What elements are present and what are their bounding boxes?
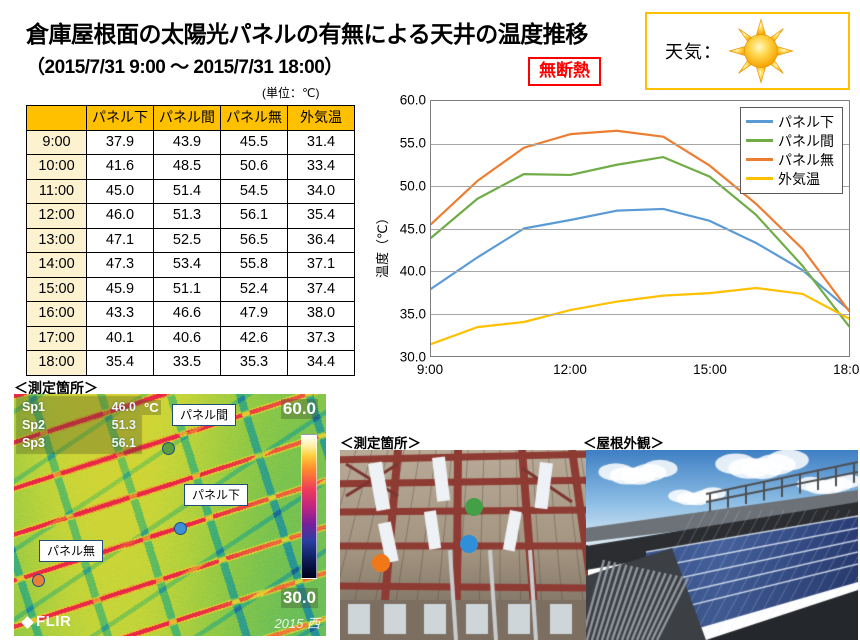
- chart-gridline: [431, 314, 849, 315]
- table-row: 18:0035.433.535.334.4: [27, 351, 355, 376]
- table-cell-value: 56.1: [221, 204, 288, 229]
- table-row: 16:0043.346.647.938.0: [27, 302, 355, 327]
- photo2-caption: ＜屋根外観＞: [583, 432, 664, 452]
- chart-legend: パネル下パネル間パネル無外気温: [740, 107, 843, 194]
- chart-series-パネル下: [431, 209, 849, 310]
- table-cell-value: 45.5: [221, 130, 288, 155]
- table-cell-value: 51.1: [154, 277, 221, 302]
- table-cell-value: 37.3: [288, 326, 355, 351]
- legend-label: 外気温: [778, 169, 820, 189]
- table-cell-value: 45.0: [87, 179, 154, 204]
- table-row: 12:0046.051.356.135.4: [27, 204, 355, 229]
- photo-interior-measurement-points: [340, 450, 588, 640]
- table-cell-value: 37.4: [288, 277, 355, 302]
- table-cell-value: 42.6: [221, 326, 288, 351]
- table-cell-value: 33.4: [288, 155, 355, 180]
- chart-x-tick-label: 9:00: [417, 362, 443, 377]
- table-cell-value: 33.5: [154, 351, 221, 376]
- table-cell-time: 9:00: [27, 130, 87, 155]
- chart-gridline: [431, 271, 849, 272]
- table-cell-value: 34.4: [288, 351, 355, 376]
- table-cell-value: 34.0: [288, 179, 355, 204]
- table-cell-value: 47.3: [87, 253, 154, 278]
- thermal-color-scale-bar: [301, 434, 317, 579]
- table-cell-value: 52.5: [154, 228, 221, 253]
- marker-panel-under: [174, 522, 187, 535]
- table-cell-time: 10:00: [27, 155, 87, 180]
- table-cell-value: 56.5: [221, 228, 288, 253]
- table-cell-value: 51.3: [154, 204, 221, 229]
- thermal-scale-high: 60.0: [281, 399, 318, 419]
- chart-x-tick-label: 15:00: [693, 362, 727, 377]
- page-title: 倉庫屋根面の太陽光パネルの有無による天井の温度推移: [26, 22, 626, 47]
- thermal-unit-label: °C: [142, 400, 161, 415]
- table-cell-time: 11:00: [27, 179, 87, 204]
- table-header-row: パネル下 パネル間 パネル無 外気温: [27, 106, 355, 131]
- table-cell-value: 54.5: [221, 179, 288, 204]
- table-row: 13:0047.152.556.536.4: [27, 228, 355, 253]
- legend-label: パネル無: [778, 150, 834, 170]
- chart-series-外気温: [431, 288, 849, 344]
- marker-panel-between: [162, 442, 175, 455]
- callout-panel-none: パネル無: [39, 540, 103, 562]
- flir-logo-text: FLIR: [36, 613, 71, 630]
- chart-x-tick-label: 18:00: [833, 362, 860, 377]
- legend-swatch: [746, 139, 773, 142]
- table-row: 10:0041.648.550.633.4: [27, 155, 355, 180]
- table-unit-note: (単位：℃): [262, 84, 319, 101]
- table-cell-time: 16:00: [27, 302, 87, 327]
- table-row: 9:0037.943.945.531.4: [27, 130, 355, 155]
- table-cell-value: 46.6: [154, 302, 221, 327]
- chart-gridline: [431, 229, 849, 230]
- spot-1-name: Sp1: [22, 400, 45, 414]
- legend-swatch: [746, 177, 773, 180]
- chart-y-tick-label: 35.0: [380, 307, 426, 322]
- chart-x-tick-label: 12:00: [553, 362, 587, 377]
- table-cell-value: 43.9: [154, 130, 221, 155]
- chart-y-tick-label: 40.0: [380, 264, 426, 279]
- table-cell-value: 38.0: [288, 302, 355, 327]
- table-cell-time: 13:00: [27, 228, 87, 253]
- legend-label: パネル下: [778, 112, 834, 132]
- table-cell-value: 35.3: [221, 351, 288, 376]
- thermal-image: Sp1 46.0 Sp2 51.3 Sp3 56.1 °C 60.0 30.0 …: [14, 394, 326, 636]
- table-cell-value: 36.4: [288, 228, 355, 253]
- table-cell-time: 18:00: [27, 351, 87, 376]
- table-cell-value: 47.9: [221, 302, 288, 327]
- photo1-caption: ＜測定箇所＞: [340, 432, 421, 452]
- table-cell-value: 50.6: [221, 155, 288, 180]
- table-cell-value: 45.9: [87, 277, 154, 302]
- table-cell-value: 46.0: [87, 204, 154, 229]
- table-cell-value: 51.4: [154, 179, 221, 204]
- table-cell-value: 43.3: [87, 302, 154, 327]
- table-cell-value: 52.4: [221, 277, 288, 302]
- table-cell-value: 31.4: [288, 130, 355, 155]
- table-cell-time: 14:00: [27, 253, 87, 278]
- photo2-canvas: [586, 450, 858, 640]
- table-cell-time: 17:00: [27, 326, 87, 351]
- photo-roof-exterior: [586, 450, 858, 640]
- table-cell-value: 41.6: [87, 155, 154, 180]
- callout-panel-between: パネル間: [172, 404, 236, 426]
- spot-2-value: 51.3: [84, 418, 136, 432]
- spot-3-name: Sp3: [22, 436, 45, 450]
- callout-panel-under: パネル下: [184, 484, 248, 506]
- chart-y-tick-label: 60.0: [380, 93, 426, 108]
- table-cell-value: 48.5: [154, 155, 221, 180]
- temperature-line-chart: 温度（℃） 30.035.040.045.050.055.060.0 パネル下パ…: [374, 92, 854, 392]
- weather-label: 天気：: [665, 38, 722, 64]
- chart-y-ticks: 30.035.040.045.050.055.060.0: [374, 92, 426, 392]
- table-cell-value: 37.1: [288, 253, 355, 278]
- legend-item[interactable]: 外気温: [746, 169, 834, 188]
- table-cell-value: 47.1: [87, 228, 154, 253]
- table-cell-value: 55.8: [221, 253, 288, 278]
- legend-item[interactable]: パネル下: [746, 112, 834, 131]
- table-row: 14:0047.353.455.837.1: [27, 253, 355, 278]
- table-header-panel-between: パネル間: [154, 106, 221, 131]
- table-header-panel-none: パネル無: [221, 106, 288, 131]
- spot-2-name: Sp2: [22, 418, 45, 432]
- legend-swatch: [746, 158, 773, 161]
- chart-y-tick-label: 55.0: [380, 135, 426, 150]
- thermal-scale-low: 30.0: [281, 588, 318, 608]
- table-header-corner: [27, 106, 87, 131]
- legend-item[interactable]: パネル無: [746, 150, 834, 169]
- table-row: 11:0045.051.454.534.0: [27, 179, 355, 204]
- spot-1-value: 46.0: [84, 400, 136, 414]
- legend-item[interactable]: パネル間: [746, 131, 834, 150]
- flir-logo: FLIR: [23, 613, 71, 630]
- table-header-panel-under: パネル下: [87, 106, 154, 131]
- chart-y-tick-label: 50.0: [380, 178, 426, 193]
- table-cell-value: 35.4: [87, 351, 154, 376]
- table-row: 17:0040.140.642.637.3: [27, 326, 355, 351]
- thermal-canvas: [14, 394, 326, 636]
- table-header-outside-air: 外気温: [288, 106, 355, 131]
- photo1-marker-orange: [372, 554, 390, 572]
- chart-y-tick-label: 45.0: [380, 221, 426, 236]
- photo1-marker-green: [465, 498, 483, 516]
- page-header: 倉庫屋根面の太陽光パネルの有無による天井の温度推移 （2015/7/31 9:0…: [0, 0, 860, 96]
- legend-label: パネル間: [778, 131, 834, 151]
- thermal-timestamp: 2015 西: [274, 613, 320, 632]
- no-insulation-badge: 無断熱: [528, 57, 601, 86]
- table-cell-value: 35.4: [288, 204, 355, 229]
- table-cell-time: 12:00: [27, 204, 87, 229]
- table-cell-value: 40.1: [87, 326, 154, 351]
- table-row: 15:0045.951.152.437.4: [27, 277, 355, 302]
- photo1-marker-blue: [460, 535, 478, 553]
- spot-3-value: 56.1: [84, 436, 136, 450]
- chart-x-ticks: 9:0012:0015:0018:00: [430, 362, 850, 384]
- table-cell-time: 15:00: [27, 277, 87, 302]
- table-cell-value: 53.4: [154, 253, 221, 278]
- table-cell-value: 40.6: [154, 326, 221, 351]
- sun-icon: [728, 18, 794, 84]
- legend-swatch: [746, 120, 773, 123]
- table-body: 9:0037.943.945.531.410:0041.648.550.633.…: [27, 130, 355, 375]
- table-cell-value: 37.9: [87, 130, 154, 155]
- weather-box: 天気：: [645, 12, 850, 90]
- chart-plot-area: パネル下パネル間パネル無外気温: [430, 100, 850, 357]
- marker-panel-none: [32, 574, 45, 587]
- temperature-table: パネル下 パネル間 パネル無 外気温 9:0037.943.945.531.41…: [26, 105, 355, 376]
